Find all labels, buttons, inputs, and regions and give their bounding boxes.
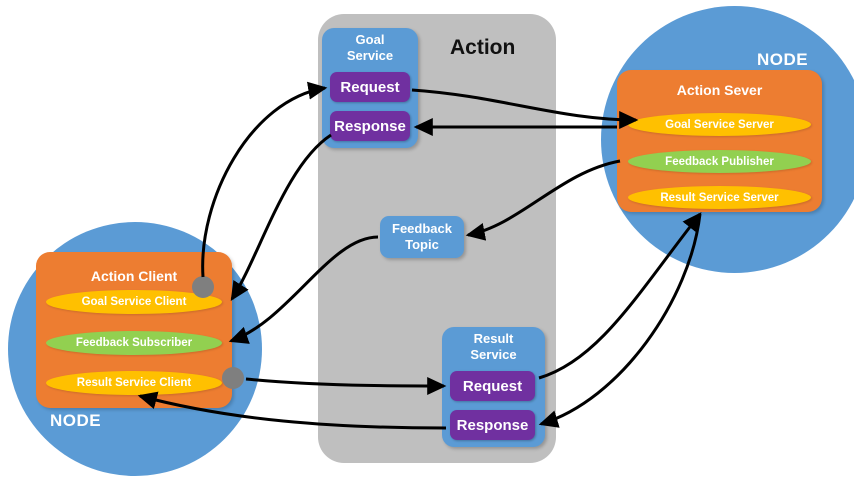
diagram-canvas: Action NODE Action Sever Goal Service Se… [0, 0, 854, 480]
edge-result-client-to-result-request [246, 379, 444, 386]
edge-request-to-goal-service-server [412, 90, 636, 120]
edge-feedback-topic-to-subscriber [231, 237, 378, 341]
edge-feedback-publisher-to-topic [468, 161, 620, 235]
connector-arrows [0, 0, 854, 480]
edge-goal-client-to-request [203, 88, 325, 277]
edge-result-response-to-result-client [140, 396, 446, 428]
